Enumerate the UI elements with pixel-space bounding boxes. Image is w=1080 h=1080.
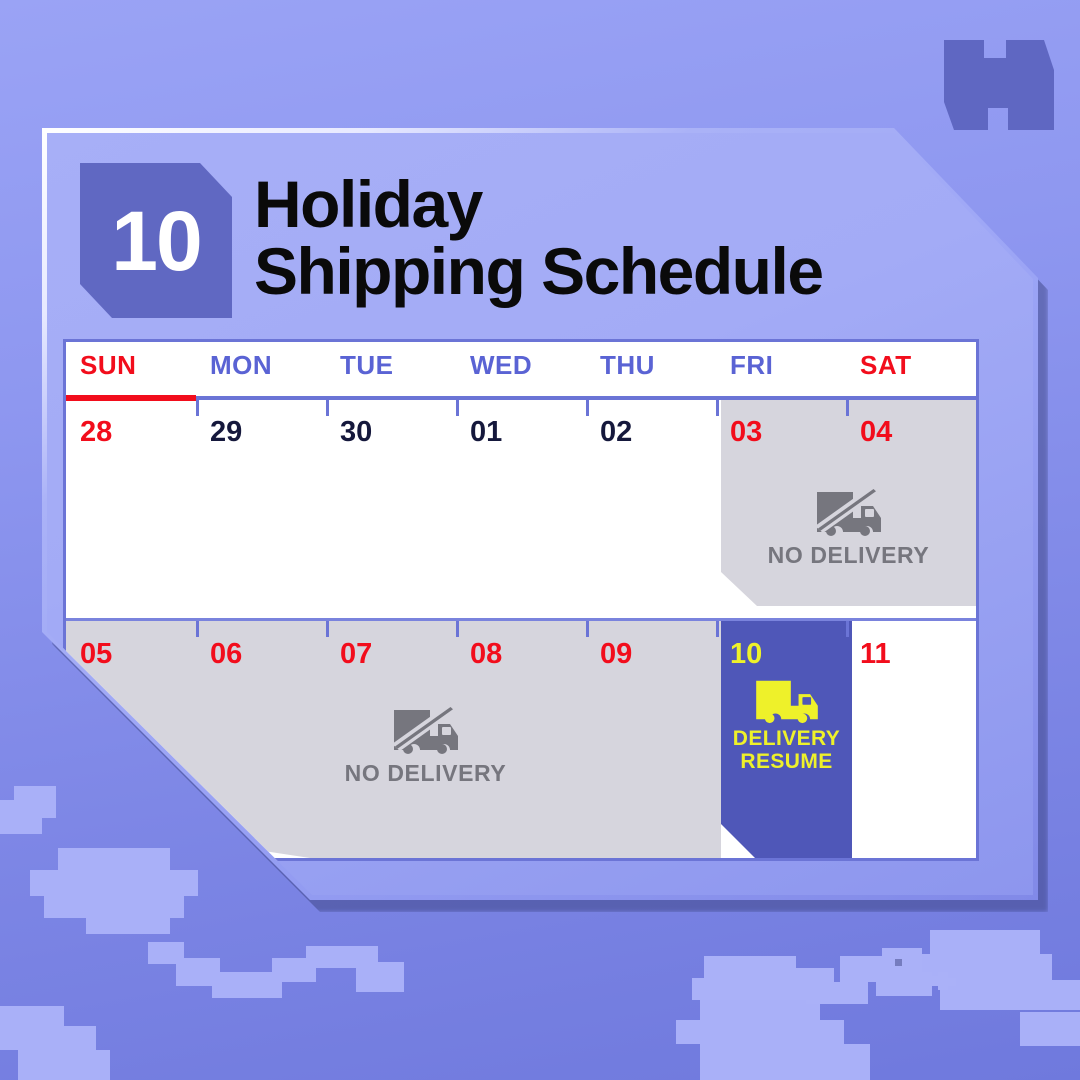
weekday-header-sat: SAT bbox=[860, 350, 912, 381]
week-row-1: 28293001020304 NO DELIVERY bbox=[66, 400, 976, 606]
column-tick bbox=[326, 621, 329, 637]
column-tick bbox=[846, 400, 849, 416]
column-tick bbox=[456, 621, 459, 637]
delivery-resume-label: DELIVERY RESUME bbox=[721, 728, 852, 773]
day-cell-03[interactable]: 03 bbox=[730, 416, 762, 449]
column-tick bbox=[196, 621, 199, 637]
day-cell-28[interactable]: 28 bbox=[80, 416, 112, 449]
title-line-2: Shipping Schedule bbox=[254, 238, 1010, 305]
day-cell-07[interactable]: 07 bbox=[340, 638, 372, 671]
no-delivery-group-week2: NO DELIVERY bbox=[298, 702, 553, 787]
column-tick bbox=[846, 621, 849, 637]
day-cell-29[interactable]: 29 bbox=[210, 416, 242, 449]
week2-rule bbox=[66, 618, 976, 621]
card-header: 10 Holiday Shipping Schedule bbox=[80, 163, 1010, 333]
title-line-1: Holiday bbox=[254, 167, 482, 241]
no-delivery-label-week1: NO DELIVERY bbox=[721, 542, 976, 569]
page-title: Holiday Shipping Schedule bbox=[254, 171, 1010, 306]
day-cell-06[interactable]: 06 bbox=[210, 638, 242, 671]
day-cell-30[interactable]: 30 bbox=[340, 416, 372, 449]
badge-number: 10 bbox=[111, 199, 200, 283]
delivery-truck-icon bbox=[752, 673, 822, 725]
weekday-header-sun: SUN bbox=[80, 350, 136, 381]
column-tick bbox=[716, 400, 719, 416]
day-cell-09[interactable]: 09 bbox=[600, 638, 632, 671]
weekday-header-fri: FRI bbox=[730, 350, 773, 381]
weekday-header-wed: WED bbox=[470, 350, 532, 381]
column-tick bbox=[586, 400, 589, 416]
day-cell-02[interactable]: 02 bbox=[600, 416, 632, 449]
day-cell-10[interactable]: 10 bbox=[730, 638, 762, 671]
resume-label-line-2: RESUME bbox=[740, 750, 832, 773]
calendar-panel: SUNMONTUEWEDTHUFRISAT 28293001020304 bbox=[63, 339, 979, 861]
day-cell-05[interactable]: 05 bbox=[80, 638, 112, 671]
day-cell-08[interactable]: 08 bbox=[470, 638, 502, 671]
weekday-header-tue: TUE bbox=[340, 350, 394, 381]
week-row-2: 05060708091011 NO DELIVERY bbox=[66, 618, 976, 858]
column-tick bbox=[196, 400, 199, 416]
column-tick bbox=[716, 621, 719, 637]
weekday-header-mon: MON bbox=[210, 350, 272, 381]
day-cell-01[interactable]: 01 bbox=[470, 416, 502, 449]
truck-slash-icon bbox=[390, 702, 462, 756]
day-cell-04[interactable]: 04 bbox=[860, 416, 892, 449]
column-tick bbox=[456, 400, 459, 416]
column-tick bbox=[326, 400, 329, 416]
resume-label-line-1: DELIVERY bbox=[733, 727, 840, 750]
delivery-resume-group: DELIVERY RESUME bbox=[721, 673, 852, 773]
weekday-header-thu: THU bbox=[600, 350, 655, 381]
truck-slash-icon bbox=[813, 484, 885, 538]
schedule-card: 10 Holiday Shipping Schedule SUNMONTUEWE… bbox=[42, 128, 1038, 900]
column-tick bbox=[586, 621, 589, 637]
no-delivery-label-week2: NO DELIVERY bbox=[298, 760, 553, 787]
day-cell-11[interactable]: 11 bbox=[860, 638, 891, 671]
weekday-header-row: SUNMONTUEWEDTHUFRISAT bbox=[66, 342, 976, 398]
day-count-badge: 10 bbox=[80, 163, 232, 318]
no-delivery-group-week1: NO DELIVERY bbox=[721, 484, 976, 569]
